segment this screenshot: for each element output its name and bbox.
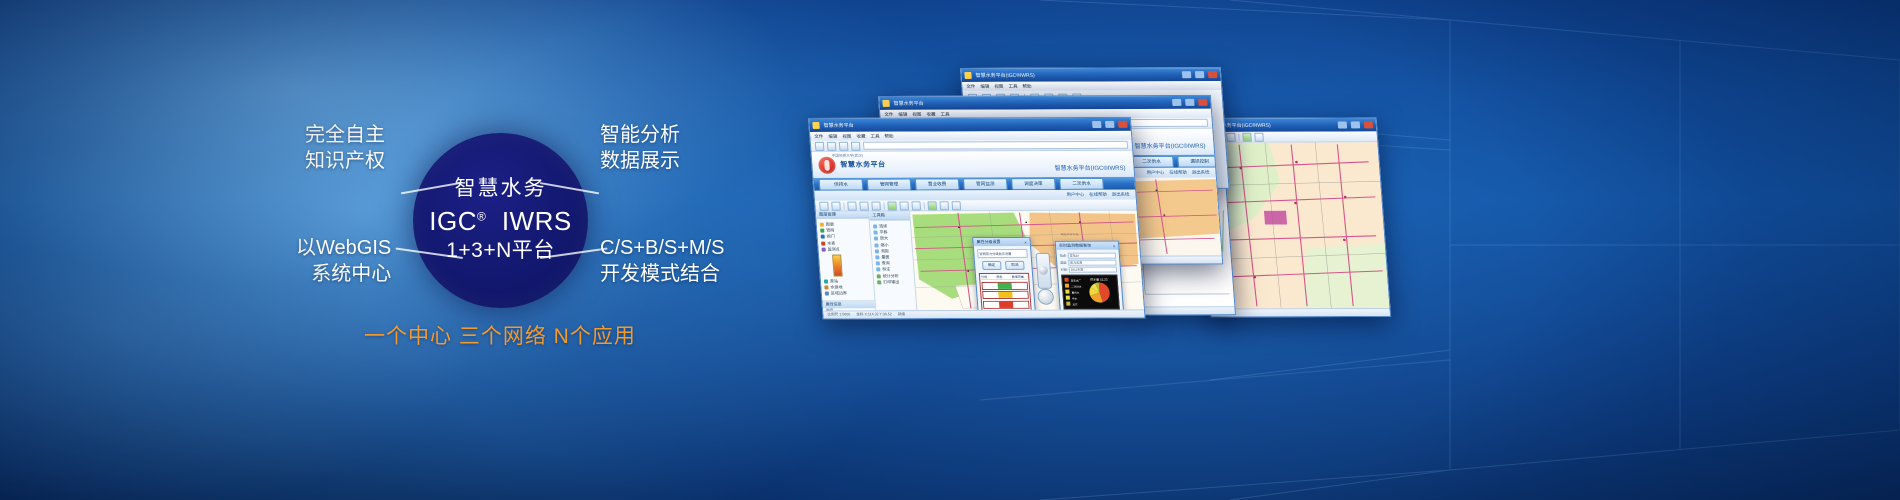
dialog-grading-table: 分级 颜色 数值范围 — [979, 273, 1032, 310]
dialog-grading-body: 管网压力分级显示设置 确定 取消 分级 颜色 数值范围 — [974, 246, 1035, 310]
nav-btn-6[interactable]: 漏损控制 — [1177, 155, 1222, 167]
measure-distance-icon[interactable] — [887, 201, 897, 210]
measure-icon[interactable] — [1254, 132, 1264, 141]
dialog-grading-buttons[interactable]: 确定 取消 — [978, 261, 1029, 270]
app-icon — [964, 72, 972, 79]
pie-chart-panel: 自来水厂 二次供水 直供水 中水 其它 供水量 52.23 — [1061, 275, 1120, 311]
tree-node-7[interactable]: 区域边界 — [825, 291, 872, 297]
feature-label-bottom-left: 以WebGIS 系统中心 — [296, 235, 391, 288]
reload-icon[interactable] — [851, 141, 861, 150]
menu-view[interactable]: 视图 — [994, 83, 1003, 89]
status-coords: 坐标 X:114.32 Y:30.52 — [856, 312, 892, 317]
tool-label-9: 打印输出 — [883, 279, 899, 285]
zoom-out-icon[interactable] — [859, 201, 869, 210]
app-icon — [812, 122, 820, 129]
dialog-ok-button[interactable]: 确定 — [982, 261, 1002, 270]
pie-chart-wrap: 供水量 52.23 — [1083, 278, 1117, 307]
secondary-platform-name: 智慧水务平台(IGC®IWRS) — [1134, 141, 1206, 150]
field-value-0[interactable]: 泵站1# — [1067, 253, 1116, 259]
dialog-monitoring-header[interactable]: 实时监测数据查询 × — [1056, 242, 1119, 250]
hub-registered-mark: ® — [477, 210, 486, 224]
hub-iwrs: IWRS — [502, 206, 572, 236]
minimize-icon[interactable] — [1172, 99, 1182, 106]
pie-legend-label-3: 中水 — [1072, 297, 1077, 300]
feature-label-top-right: 智能分析 数据展示 — [600, 122, 680, 175]
menu-help[interactable]: 帮助 — [1022, 83, 1031, 89]
dialog-monitoring-body: 站点: 泵站1# 类型: 压力监测 时间: 2015年度 — [1056, 250, 1123, 311]
pan-direction-pad[interactable] — [1037, 289, 1054, 305]
main-platform-name: 智慧水务平台(IGC®IWRS) — [1054, 163, 1126, 172]
svg-text:城区供水分区: 城区供水分区 — [1061, 232, 1079, 236]
grading-th-0: 分级 — [981, 275, 997, 279]
feature-top-left-line1: 完全自主 — [305, 122, 385, 148]
dialog-close-icon[interactable]: × — [1024, 239, 1027, 244]
minimize-icon[interactable] — [1338, 121, 1348, 128]
hub-igc: IGC — [429, 206, 477, 236]
main-statusbar: 比例尺 1:5000 坐标 X:114.32 Y:30.52 就绪 — [823, 309, 1144, 318]
nav-link-1[interactable]: 在线帮助 — [1169, 170, 1187, 176]
main-body: 图层管理 图层 管网 阀门 水表 监测点 泵站 水源地 区域边界 属性信息 — [816, 211, 1144, 311]
grading-row-0 — [981, 281, 1028, 289]
main-brand-name: 智慧水务平台 — [840, 160, 886, 170]
close-icon[interactable] — [1364, 121, 1374, 128]
nav-btn-5[interactable]: 二次供水 — [1129, 155, 1174, 167]
feature-top-right-line2: 数据展示 — [600, 148, 680, 174]
main-window-title: 智慧水务平台 — [823, 122, 854, 129]
address-input[interactable] — [863, 141, 1128, 150]
grading-th-2: 数值范围 — [1012, 275, 1028, 279]
feature-label-bottom-right: C/S+B/S+M/S 开发模式结合 — [600, 235, 725, 288]
dialog-grading-sub: 管网压力分级显示设置 — [977, 249, 1028, 258]
select-icon[interactable] — [819, 201, 829, 210]
full-extent-icon[interactable] — [871, 201, 881, 210]
main-nav-link-1[interactable]: 在线帮助 — [1089, 192, 1107, 198]
menu-tools[interactable]: 工具 — [1008, 83, 1017, 89]
ribbon-window-title: 智慧水务平台(IGC®IWRS) — [975, 72, 1035, 79]
main-nav-btn-4[interactable]: 调度决策 — [1011, 177, 1056, 189]
main-nav-link-2[interactable]: 退出系统 — [1112, 192, 1130, 198]
forward-icon[interactable] — [827, 141, 837, 150]
dialog-close-icon[interactable]: × — [1113, 243, 1116, 248]
feature-top-right-line1: 智能分析 — [600, 122, 680, 148]
main-layer-panel[interactable]: 图层管理 图层 管网 阀门 水表 监测点 泵站 水源地 区域边界 属性信息 — [816, 212, 876, 311]
menu-help[interactable]: 帮助 — [884, 133, 893, 139]
maximize-icon[interactable] — [1185, 99, 1195, 106]
hub-line-3: 1+3+N平台 — [446, 239, 555, 264]
main-nav-btn-5[interactable]: 二次供水 — [1059, 177, 1104, 189]
pan-icon[interactable] — [831, 201, 841, 210]
dialog-monitoring[interactable]: 实时监测数据查询 × 站点: 泵站1# 类型: 压力监测 — [1055, 241, 1125, 311]
grading-table-header: 分级 颜色 数值范围 — [981, 275, 1027, 280]
main-titlebar[interactable]: 智慧水务平台 — [809, 118, 1131, 132]
close-icon[interactable] — [1118, 121, 1128, 128]
main-nav-link-0[interactable]: 用户中心 — [1066, 192, 1084, 198]
menu-favorites[interactable]: 收藏 — [856, 133, 865, 139]
chart-window-statusbar — [1138, 306, 1235, 314]
minimize-icon[interactable] — [1092, 121, 1102, 128]
menu-tools[interactable]: 工具 — [940, 111, 949, 117]
menu-view[interactable]: 视图 — [842, 133, 851, 139]
zoom-in-icon[interactable] — [847, 201, 857, 210]
main-nav-btn-0[interactable]: 供排水 — [818, 178, 863, 190]
banner-tagline: 一个中心 三个网络 N个应用 — [364, 320, 636, 350]
main-nav-btn-2[interactable]: 营业收费 — [915, 178, 960, 190]
close-icon[interactable] — [1208, 71, 1218, 78]
dialog-grading-header[interactable]: 属性分级设置 × — [973, 238, 1030, 246]
menu-tools[interactable]: 工具 — [870, 133, 879, 139]
zoom-out-icon[interactable] — [1226, 132, 1236, 141]
pie-legend-4: 其它 — [1066, 301, 1083, 307]
feature-label-top-left: 完全自主 知识产权 — [305, 122, 385, 175]
main-map-canvas[interactable]: 管网压力监测区 城区供水分区 属性分级设置 × 管网压力分级显示设置 确定 — [910, 211, 1144, 311]
app-icon — [882, 100, 890, 107]
main-tools-panel-title: 工具箱 — [869, 211, 910, 220]
zoom-slider-handle[interactable] — [1038, 266, 1048, 275]
hub-line-1: 智慧水务 — [455, 177, 547, 202]
menu-favorites[interactable]: 收藏 — [926, 111, 935, 117]
pie-legend-label-4: 其它 — [1072, 303, 1077, 306]
field-value-1[interactable]: 压力监测 — [1068, 260, 1117, 266]
grading-row-1 — [982, 291, 1029, 299]
feature-top-left-line2: 知识产权 — [305, 148, 385, 174]
tool-item-9[interactable]: 打印输出 — [877, 279, 912, 285]
field-row-1[interactable]: 类型: 压力监测 — [1060, 260, 1117, 266]
hub-circle: 智慧水务 IGC® IWRS 1+3+N平台 — [413, 133, 588, 308]
tree-label-7: 区域边界 — [831, 291, 847, 297]
field-value-2[interactable]: 2015年度 — [1068, 267, 1117, 273]
pie-legend-label-1: 二次供水 — [1071, 286, 1082, 289]
field-label-0: 站点: — [1060, 254, 1067, 258]
main-navrow[interactable]: 供排水 管网管理 营业收费 管网监测 调度决策 二次供水 — [813, 177, 1135, 191]
close-icon[interactable] — [1198, 99, 1208, 106]
menu-file[interactable]: 文件 — [884, 111, 893, 117]
menu-view[interactable]: 视图 — [912, 111, 921, 117]
banner-stage: 智慧水务 IGC® IWRS 1+3+N平台 完全自主 知识产权 以WebGIS… — [0, 0, 1900, 500]
ribbon-window-titlebar[interactable]: 智慧水务平台(IGC®IWRS) — [961, 68, 1221, 82]
legend-color-ramp — [832, 254, 843, 276]
pie-legend-label-0: 自来水厂 — [1071, 280, 1082, 283]
main-brandbar: 智慧水务平台 中国地质大学(武汉) 智慧水务平台(IGC®IWRS) — [811, 151, 1134, 178]
nav-link-0[interactable]: 用户中心 — [1146, 170, 1164, 176]
field-row-0[interactable]: 站点: 泵站1# — [1060, 253, 1117, 259]
main-layer-tree[interactable]: 图层 管网 阀门 水表 监测点 泵站 水源地 区域边界 — [816, 219, 874, 300]
feature-bottom-left-line2: 系统中心 — [296, 261, 391, 287]
identify-icon[interactable] — [911, 201, 921, 210]
grading-th-1: 颜色 — [996, 275, 1012, 279]
menu-edit[interactable]: 编辑 — [898, 111, 907, 117]
secondary-titlebar[interactable]: 智慧水务平台 — [879, 96, 1211, 110]
menu-file[interactable]: 文件 — [814, 133, 823, 139]
maximize-icon[interactable] — [1195, 71, 1205, 78]
company-logo-icon — [818, 156, 836, 173]
layer-icon[interactable] — [1242, 132, 1252, 141]
stop-icon[interactable] — [839, 141, 849, 150]
zoom-slider[interactable] — [1035, 253, 1052, 289]
map-window-statusbar — [1211, 308, 1390, 317]
menu-edit[interactable]: 编辑 — [980, 83, 989, 89]
main-tools-list[interactable]: 选择 平移 放大 缩小 测距 量面 查询 标注 统计分析 打印输出 — [870, 220, 917, 310]
dialog-grading[interactable]: 属性分级设置 × 管网压力分级显示设置 确定 取消 分级 — [972, 237, 1036, 310]
window-main[interactable]: 智慧水务平台 文件 编辑 视图 收藏 工具 帮助 — [808, 117, 1146, 320]
menu-edit[interactable]: 编辑 — [828, 133, 837, 139]
feature-bottom-left-line1: 以WebGIS — [296, 235, 391, 261]
menu-file[interactable]: 文件 — [966, 83, 975, 89]
field-row-2[interactable]: 时间: 2015年度 — [1061, 267, 1118, 273]
hub-line-2: IGC® IWRS — [429, 206, 571, 237]
label-icon[interactable] — [939, 201, 949, 210]
maximize-icon[interactable] — [1351, 121, 1361, 128]
query-icon[interactable] — [927, 201, 937, 210]
field-label-1: 类型: — [1060, 261, 1067, 265]
main-brand-sub: 中国地质大学(武汉) — [832, 154, 864, 159]
status-scale: 比例尺 1:5000 — [827, 312, 850, 317]
tree-label-4: 监测点 — [827, 246, 839, 252]
main-tools-panel[interactable]: 工具箱 选择 平移 放大 缩小 测距 量面 查询 标注 统计分析 打印输出 — [869, 211, 917, 310]
dialog-cancel-button[interactable]: 取消 — [1005, 261, 1025, 270]
field-label-2: 时间: — [1061, 268, 1068, 272]
dialog-grading-title: 属性分级设置 — [976, 239, 1000, 245]
back-icon[interactable] — [815, 141, 825, 150]
minimize-icon[interactable] — [1182, 71, 1192, 78]
grading-row-2 — [983, 300, 1030, 308]
status-ready: 就绪 — [898, 312, 906, 317]
feature-bottom-right-line1: C/S+B/S+M/S — [600, 235, 725, 261]
pie-legend: 自来水厂 二次供水 直供水 中水 其它 — [1064, 278, 1083, 307]
maximize-icon[interactable] — [1105, 121, 1115, 128]
main-nav-btn-3[interactable]: 管网监测 — [963, 178, 1008, 190]
tree-node-4[interactable]: 监测点 — [821, 246, 868, 252]
secondary-window-title: 智慧水务平台 — [893, 100, 924, 107]
pie-legend-label-2: 直供水 — [1071, 291, 1079, 294]
dialog-monitoring-title: 实时监测数据查询 — [1059, 243, 1092, 249]
main-nav-btn-1[interactable]: 管网管理 — [867, 178, 912, 190]
print-icon[interactable] — [951, 201, 961, 210]
nav-link-2[interactable]: 退出系统 — [1192, 170, 1210, 176]
feature-bottom-right-line2: 开发模式结合 — [600, 261, 725, 287]
measure-area-icon[interactable] — [899, 201, 909, 210]
